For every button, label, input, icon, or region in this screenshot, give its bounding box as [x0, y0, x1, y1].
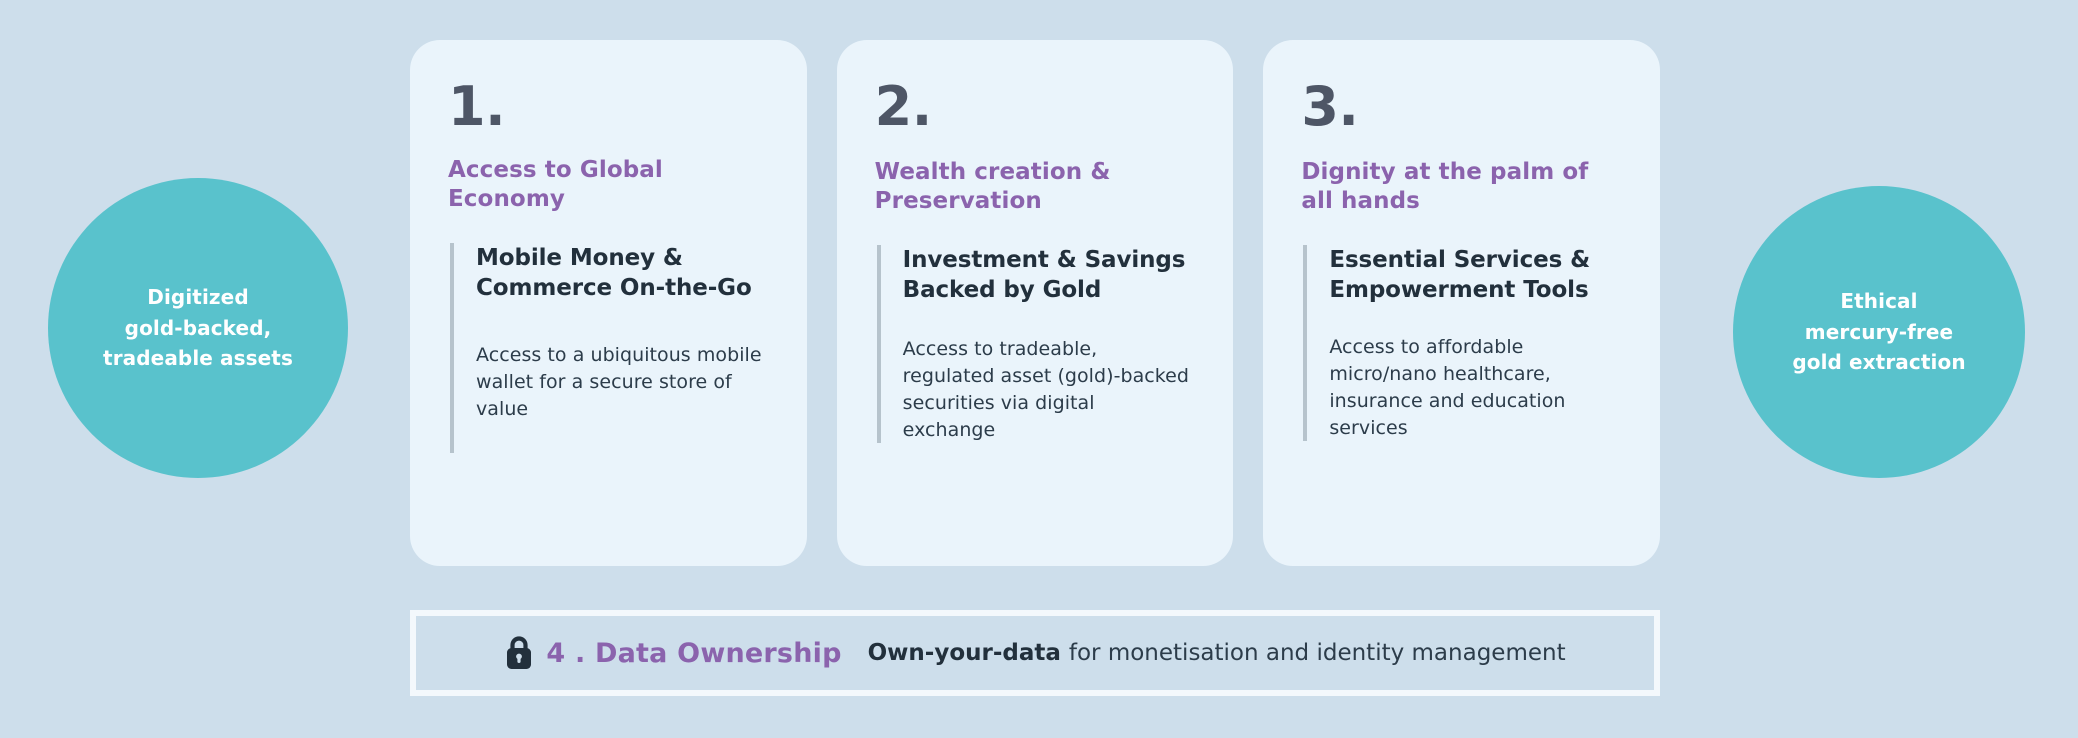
circle-line: gold-backed, [103, 313, 293, 343]
circle-line: gold extraction [1792, 347, 1965, 377]
card-number: 3. [1301, 80, 1616, 134]
lock-icon [504, 635, 534, 671]
card-subtitle: Investment & Savings Backed by Gold [903, 245, 1190, 306]
card-description: Access to a ubiquitous mobile wallet for… [476, 342, 763, 423]
ethical-extraction-circle-text: Ethical mercury-free gold extraction [1792, 286, 1965, 377]
digitized-assets-circle: Digitized gold-backed, tradeable assets [48, 178, 348, 478]
card-subtitle: Essential Services & Empowerment Tools [1329, 245, 1616, 306]
card-subtitle: Mobile Money & Commerce On-the-Go [476, 243, 763, 304]
card-heading: Access to Global Economy [448, 156, 763, 215]
pillar-card-1[interactable]: 1. Access to Global Economy Mobile Money… [410, 40, 807, 566]
circle-line: Ethical [1792, 286, 1965, 316]
card-heading: Wealth creation & Preservation [875, 158, 1190, 217]
ethical-extraction-circle: Ethical mercury-free gold extraction [1733, 186, 2025, 478]
digitized-assets-circle-text: Digitized gold-backed, tradeable assets [103, 282, 293, 373]
pillar-card-3[interactable]: 3. Dignity at the palm of all hands Esse… [1263, 40, 1660, 566]
pillar-cards-row: 1. Access to Global Economy Mobile Money… [410, 40, 1660, 566]
data-ownership-number: 4 . Data Ownership [546, 638, 841, 669]
pillar-card-2[interactable]: 2. Wealth creation & Preservation Invest… [837, 40, 1234, 566]
circle-line: tradeable assets [103, 343, 293, 373]
card-description: Access to affordable micro/nano healthca… [1329, 334, 1616, 442]
card-body: Investment & Savings Backed by Gold Acce… [877, 245, 1190, 444]
card-body: Mobile Money & Commerce On-the-Go Access… [450, 243, 763, 453]
card-description: Access to tradeable, regulated asset (go… [903, 336, 1190, 444]
circle-line: Digitized [103, 282, 293, 312]
data-ownership-rest-text: for monetisation and identity management [1069, 640, 1566, 666]
data-ownership-strong-text: Own-your-data [868, 640, 1061, 666]
card-number: 1. [448, 80, 763, 134]
circle-line: mercury-free [1792, 317, 1965, 347]
data-ownership-bar[interactable]: 4 . Data Ownership Own-your-data for mon… [410, 610, 1660, 696]
card-number: 2. [875, 80, 1190, 134]
card-body: Essential Services & Empowerment Tools A… [1303, 245, 1616, 442]
card-heading: Dignity at the palm of all hands [1301, 158, 1616, 217]
